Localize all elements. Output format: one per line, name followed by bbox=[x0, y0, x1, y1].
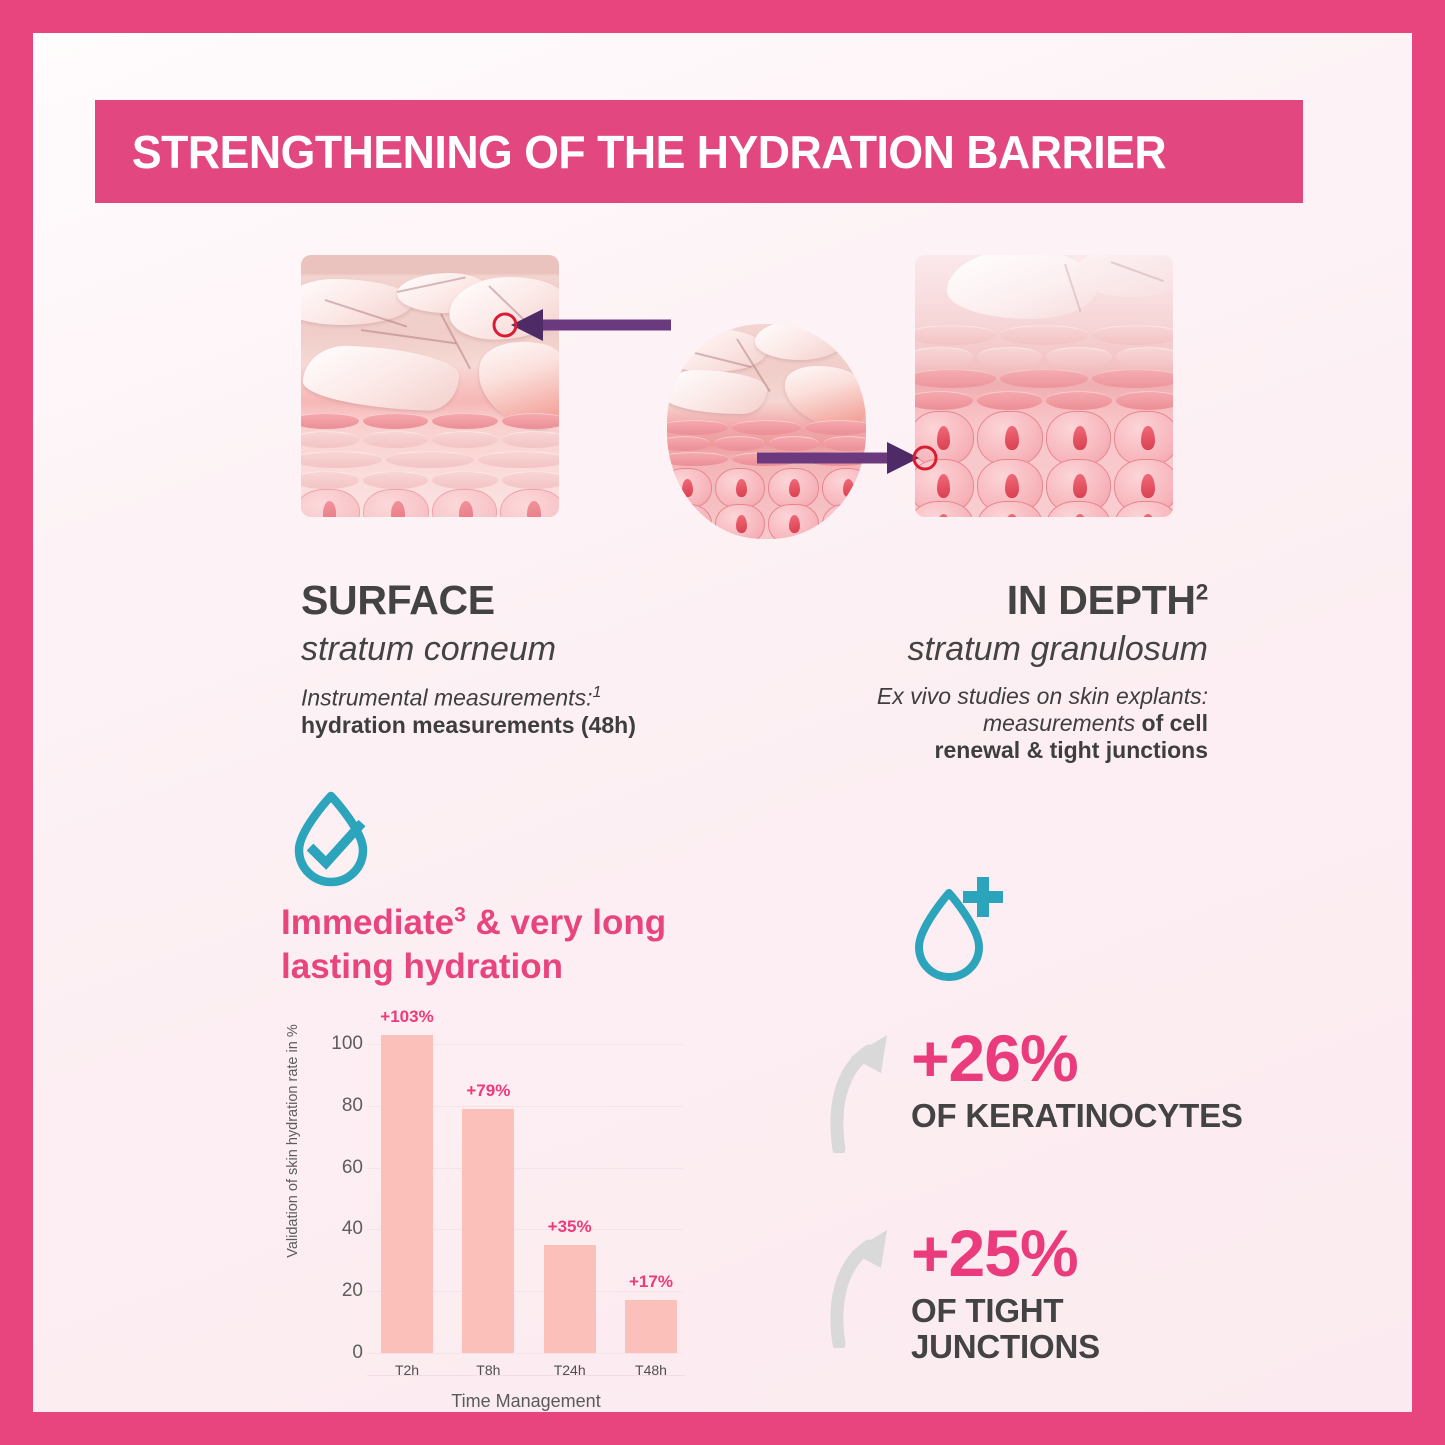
hydration-heading: Immediate3 & very long lasting hydration bbox=[281, 901, 751, 989]
granular-cell-row bbox=[667, 468, 866, 508]
in-depth-note-line2-italic: measurements bbox=[983, 710, 1142, 736]
granular-cell bbox=[915, 411, 974, 465]
chart-bar-group: +17%T48h bbox=[625, 1013, 677, 1353]
granular-cell-row bbox=[301, 489, 559, 517]
stat-caption: OF TIGHT JUNCTIONS bbox=[911, 1293, 1151, 1366]
chart-x-axis-line bbox=[367, 1375, 685, 1376]
in-depth-note-line3-bold: renewal & tight junctions bbox=[935, 737, 1208, 763]
corneocyte-flake bbox=[755, 324, 841, 360]
granular-cell bbox=[715, 504, 766, 539]
skin-image-in-depth bbox=[915, 255, 1173, 517]
chart-bar-value-label: +103% bbox=[380, 1007, 433, 1027]
chart-y-axis-label: Validation of skin hydration rate in % bbox=[285, 991, 305, 1291]
granular-cell bbox=[363, 489, 428, 517]
chart-y-tick-label: 0 bbox=[352, 1342, 363, 1364]
granular-cell-row bbox=[915, 411, 1173, 465]
skin-band bbox=[301, 413, 559, 429]
in-depth-note-line2-bold: of cell bbox=[1142, 710, 1208, 736]
stat-value: +25% bbox=[911, 1222, 1151, 1285]
skin-band bbox=[301, 471, 559, 489]
chart-bar-group: +35%T24h bbox=[544, 1013, 596, 1353]
surface-column-heading: SURFACE stratum corneum Instrumental mea… bbox=[301, 578, 771, 739]
granular-cell bbox=[1114, 501, 1173, 517]
skin-image-surface bbox=[301, 255, 559, 517]
chart-y-tick-label: 60 bbox=[342, 1157, 363, 1179]
granular-cell bbox=[977, 501, 1042, 517]
corneocyte-flake bbox=[947, 255, 1097, 319]
surface-note-italic: Instrumental measurements: bbox=[301, 684, 592, 710]
stat-text-block: +26% OF KERATINOCYTES bbox=[911, 1023, 1243, 1134]
granular-cell bbox=[915, 501, 974, 517]
granular-cell bbox=[1046, 411, 1111, 465]
hydration-heading-part1: Immediate bbox=[281, 903, 454, 942]
surface-subtitle: stratum corneum bbox=[301, 628, 771, 671]
surface-title: SURFACE bbox=[301, 578, 771, 622]
skin-band bbox=[301, 451, 559, 468]
granular-cell bbox=[822, 504, 867, 539]
infographic-frame: STRENGTHENING OF THE HYDRATION BARRIER bbox=[0, 0, 1445, 1445]
chart-y-tick-label: 100 bbox=[331, 1033, 363, 1055]
in-depth-title: IN DEPTH2 bbox=[778, 578, 1208, 622]
skin-band bbox=[915, 391, 1173, 410]
corneocyte-flake bbox=[667, 370, 767, 414]
in-depth-note: Ex vivo studies on skin explants: measur… bbox=[778, 683, 1208, 764]
chart-y-tick-label: 20 bbox=[342, 1280, 363, 1302]
chart-y-tick-label: 40 bbox=[342, 1218, 363, 1240]
skin-image-zoom-inset bbox=[667, 324, 866, 539]
in-depth-title-text: IN DEPTH bbox=[1007, 577, 1196, 623]
skin-band bbox=[301, 431, 559, 448]
in-depth-column-heading: IN DEPTH2 stratum granulosum Ex vivo stu… bbox=[778, 578, 1208, 764]
granular-cell bbox=[715, 468, 766, 508]
granular-cell-row bbox=[667, 504, 866, 539]
droplet-check-icon bbox=[285, 790, 377, 890]
chart-y-tick-label: 80 bbox=[342, 1095, 363, 1117]
granular-cell bbox=[822, 468, 867, 508]
chart-x-axis-label: Time Management bbox=[367, 1391, 685, 1412]
stat-keratinocytes: +26% OF KERATINOCYTES bbox=[829, 1023, 1243, 1153]
granular-cell bbox=[1046, 501, 1111, 517]
skin-band bbox=[915, 325, 1173, 345]
skin-band bbox=[915, 369, 1173, 388]
chart-bar bbox=[544, 1245, 596, 1353]
chart-bars: +103%T2h+79%T8h+35%T24h+17%T48h bbox=[375, 1013, 683, 1353]
chart-bar-group: +79%T8h bbox=[462, 1013, 514, 1353]
stat-caption: OF KERATINOCYTES bbox=[911, 1098, 1243, 1134]
skin-band bbox=[667, 420, 866, 435]
stat-text-block: +25% OF TIGHT JUNCTIONS bbox=[911, 1218, 1151, 1365]
footnote-marker-1: 1 bbox=[592, 683, 601, 701]
granular-cell bbox=[500, 489, 559, 517]
chart-bar-value-label: +79% bbox=[466, 1081, 510, 1101]
skin-band bbox=[915, 347, 1173, 367]
granular-cell-row bbox=[915, 501, 1173, 517]
chart-bar-value-label: +17% bbox=[629, 1272, 673, 1292]
granular-cell bbox=[768, 468, 819, 508]
granular-cell bbox=[1114, 411, 1173, 465]
granular-cell bbox=[667, 468, 712, 508]
in-depth-subtitle: stratum granulosum bbox=[778, 628, 1208, 671]
droplet-plus-icon bbox=[905, 871, 1010, 991]
skin-band bbox=[667, 436, 866, 451]
chart-bar bbox=[625, 1300, 677, 1353]
footnote-marker-3: 3 bbox=[454, 903, 466, 926]
footnote-marker-2: 2 bbox=[1196, 579, 1208, 604]
chart-plot-area: 020406080100 +103%T2h+79%T8h+35%T24h+17%… bbox=[375, 1013, 683, 1353]
in-depth-note-line1: Ex vivo studies on skin explants: bbox=[877, 683, 1208, 709]
stat-value: +26% bbox=[911, 1027, 1243, 1090]
surface-note-bold: hydration measurements (48h) bbox=[301, 712, 636, 738]
chart-bar bbox=[462, 1109, 514, 1353]
chart-bar-group: +103%T2h bbox=[381, 1013, 433, 1353]
skin-band bbox=[667, 452, 866, 466]
curved-up-arrow-icon bbox=[829, 1023, 901, 1153]
chart-gridline bbox=[367, 1353, 683, 1354]
hydration-bar-chart: Validation of skin hydration rate in % 0… bbox=[285, 995, 685, 1412]
granular-cell bbox=[768, 504, 819, 539]
curved-up-arrow-icon bbox=[829, 1218, 901, 1348]
stat-tight-junctions: +25% OF TIGHT JUNCTIONS bbox=[829, 1218, 1151, 1365]
granular-cell bbox=[667, 504, 712, 539]
chart-bar bbox=[381, 1035, 433, 1353]
granular-cell bbox=[301, 489, 360, 517]
chart-bar-value-label: +35% bbox=[548, 1217, 592, 1237]
granular-cell bbox=[977, 411, 1042, 465]
granular-cell bbox=[432, 489, 497, 517]
infographic-canvas: STRENGTHENING OF THE HYDRATION BARRIER bbox=[33, 33, 1412, 1412]
surface-note: Instrumental measurements:1 hydration me… bbox=[301, 683, 771, 739]
